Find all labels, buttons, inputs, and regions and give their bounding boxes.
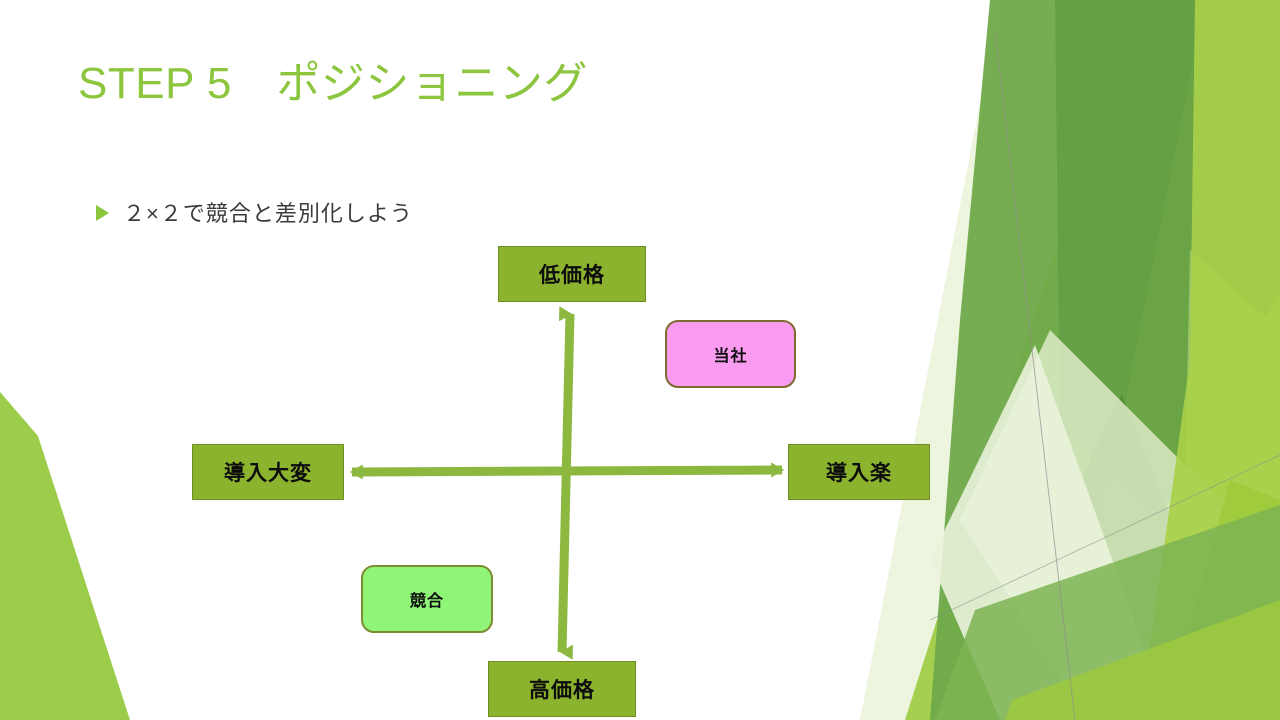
matrix-item-competitor[interactable]: 競合 bbox=[361, 565, 493, 633]
slide: STEP 5 ポジショニング ２×２で競合と差別化しよう bbox=[0, 0, 1280, 720]
matrix-label-hard-introduction[interactable]: 導入大変 bbox=[192, 444, 344, 500]
matrix-axes bbox=[0, 0, 1280, 720]
vertical-axis-arrow bbox=[562, 314, 570, 652]
matrix-label-low-price[interactable]: 低価格 bbox=[498, 246, 646, 302]
matrix-item-our-company[interactable]: 当社 bbox=[665, 320, 796, 388]
matrix-label-high-price[interactable]: 高価格 bbox=[488, 661, 636, 717]
positioning-matrix-diagram: 低価格 高価格 導入大変 導入楽 当社 競合 bbox=[0, 0, 1280, 720]
horizontal-axis-arrow bbox=[352, 470, 782, 472]
matrix-label-easy-introduction[interactable]: 導入楽 bbox=[788, 444, 930, 500]
